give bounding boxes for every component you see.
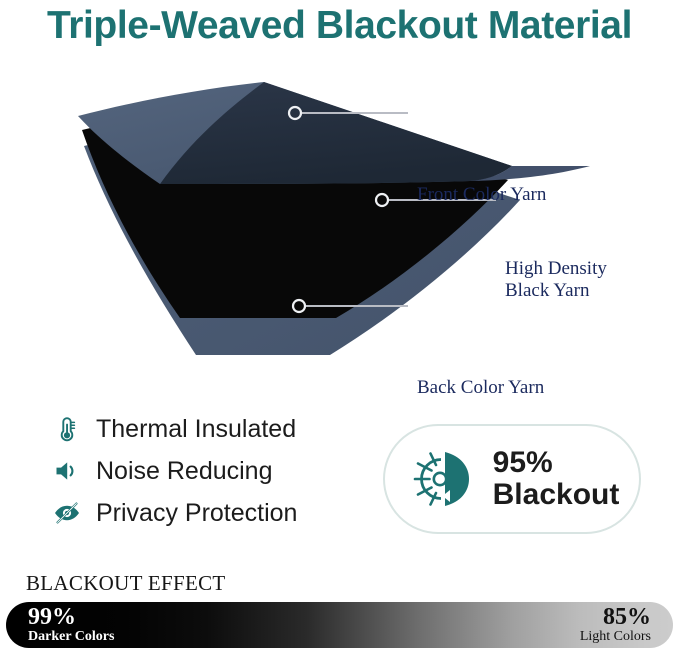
back-color-yarn-label: Back Color Yarn — [417, 377, 544, 399]
sun-blocked-by-curtain-icon — [405, 446, 477, 512]
blackout-effect-light: 85% Light Colors — [580, 605, 651, 645]
feature-list: Thermal Insulated Noise Reducing — [52, 408, 372, 534]
front-color-yarn-label: Front Color Yarn — [417, 184, 546, 206]
light-percent: 85% — [580, 605, 651, 630]
product-infographic: Triple-Weaved Blackout Material — [0, 0, 679, 654]
feature-noise-reducing: Noise Reducing — [52, 450, 372, 492]
darker-percent: 99% — [28, 605, 114, 630]
page-title: Triple-Weaved Blackout Material — [0, 4, 679, 48]
eye-slash-icon — [52, 498, 82, 528]
blackout-effect-darker: 99% Darker Colors — [28, 605, 114, 645]
feature-thermal-insulated: Thermal Insulated — [52, 408, 372, 450]
blackout-effect-heading: BLACKOUT EFFECT — [26, 571, 226, 596]
blackout-effect-gradient-bar: 99% Darker Colors 85% Light Colors — [6, 602, 673, 648]
darker-caption: Darker Colors — [28, 630, 114, 645]
blackout-badge-text: 95% Blackout — [493, 447, 620, 512]
blackout-badge: 95% Blackout — [383, 424, 641, 534]
feature-label: Privacy Protection — [96, 499, 297, 528]
fabric-layer-front — [78, 82, 590, 184]
blackout-label: Blackout — [493, 478, 620, 511]
thermometer-icon — [52, 414, 82, 444]
speaker-icon — [52, 456, 82, 486]
high-density-black-yarn-label-line1: High Density — [505, 258, 607, 280]
blackout-percent: 95% — [493, 446, 553, 479]
light-caption: Light Colors — [580, 630, 651, 645]
high-density-black-yarn-label-line2: Black Yarn — [505, 280, 607, 302]
fabric-layers-diagram: Front Color Yarn High Density Black Yarn… — [0, 80, 679, 355]
feature-label: Noise Reducing — [96, 457, 273, 486]
high-density-black-yarn-label: High Density Black Yarn — [505, 258, 607, 303]
feature-privacy-protection: Privacy Protection — [52, 492, 372, 534]
feature-label: Thermal Insulated — [96, 415, 296, 444]
